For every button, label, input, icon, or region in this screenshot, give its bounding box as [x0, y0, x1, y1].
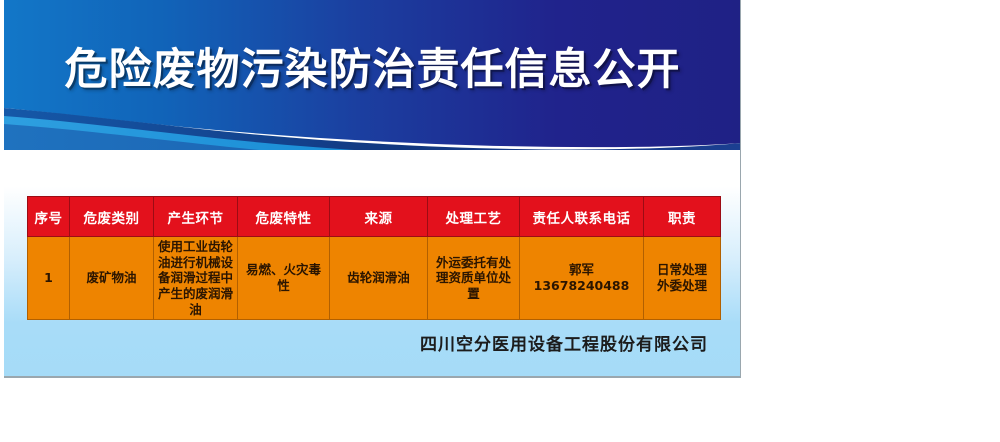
column-header-contact: 责任人联系电话 — [520, 197, 644, 237]
cell-source: 齿轮润滑油 — [330, 237, 428, 320]
cell-duty: 日常处理外委处理 — [644, 237, 721, 320]
column-header-category: 危废类别 — [70, 197, 154, 237]
cell-treatment: 外运委托有处理资质单位处置 — [428, 237, 520, 320]
column-header-source: 来源 — [330, 197, 428, 237]
table-row: 1 废矿物油 使用工业齿轮油进行机械设备润滑过程中产生的废润滑油 易燃、火灾毒性… — [28, 237, 721, 320]
cell-hazard-property: 易燃、火灾毒性 — [238, 237, 330, 320]
poster-panel: 危险废物污染防治责任信息公开 序号 危废类别 产生环节 危废特性 — [4, 0, 741, 378]
cell-index: 1 — [28, 237, 70, 320]
banner-graphic — [4, 0, 741, 175]
cell-category: 废矿物油 — [70, 237, 154, 320]
table-header-row: 序号 危废类别 产生环节 危废特性 来源 处理工艺 责任人联系电话 职责 — [28, 197, 721, 237]
column-header-hazard-property: 危废特性 — [238, 197, 330, 237]
company-name: 四川空分医用设备工程股份有限公司 — [27, 330, 720, 355]
cell-contact: 郭军13678240488 — [520, 237, 644, 320]
column-header-generation-stage: 产生环节 — [154, 197, 238, 237]
hazardous-waste-table: 序号 危废类别 产生环节 危废特性 来源 处理工艺 责任人联系电话 职责 1 废… — [27, 196, 721, 320]
column-header-treatment: 处理工艺 — [428, 197, 520, 237]
screenshot-root: 危险废物污染防治责任信息公开 序号 危废类别 产生环节 危废特性 — [0, 0, 1000, 442]
cell-generation-stage: 使用工业齿轮油进行机械设备润滑过程中产生的废润滑油 — [154, 237, 238, 320]
column-header-duty: 职责 — [644, 197, 721, 237]
column-header-index: 序号 — [28, 197, 70, 237]
